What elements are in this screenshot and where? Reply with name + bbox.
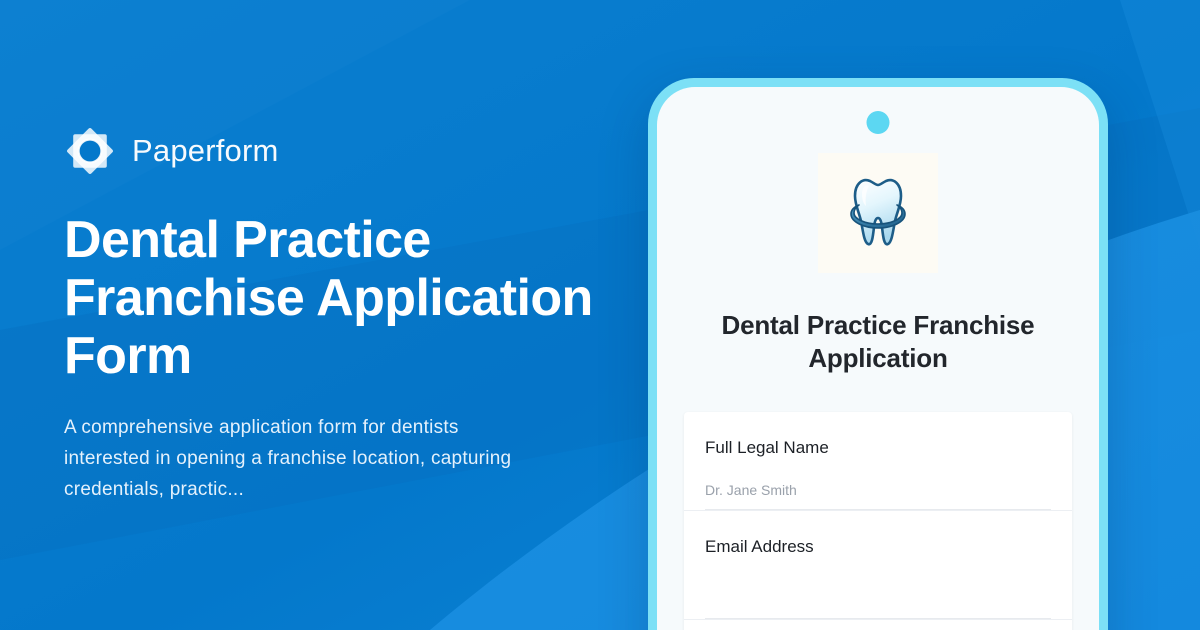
field-label: Full Legal Name	[705, 438, 1051, 458]
form-title: Dental Practice Franchise Application	[679, 309, 1077, 376]
form-card: Full Legal Name Dr. Jane Smith Email Add…	[684, 412, 1072, 630]
tooth-icon	[842, 174, 914, 252]
og-image-canvas: Paperform Dental Practice Franchise Appl…	[0, 0, 1200, 630]
paperform-star-logo-icon	[64, 125, 116, 177]
form-logo	[818, 153, 938, 273]
page-title: Dental Practice Franchise Application Fo…	[64, 211, 604, 386]
form-field-email-address: Email Address	[684, 511, 1072, 620]
brand-name: Paperform	[132, 133, 279, 169]
camera-dot-icon	[867, 111, 890, 134]
form-field-full-legal-name: Full Legal Name Dr. Jane Smith	[684, 412, 1072, 511]
phone-mockup: Dental Practice Franchise Application Fu…	[648, 78, 1108, 630]
hero-panel: Paperform Dental Practice Franchise Appl…	[64, 0, 624, 630]
field-label: Email Address	[705, 537, 1051, 557]
phone-screen: Dental Practice Franchise Application Fu…	[657, 87, 1099, 630]
email-address-input[interactable]	[705, 599, 1051, 619]
page-description: A comprehensive application form for den…	[64, 413, 544, 505]
brand-lockup: Paperform	[64, 125, 624, 177]
full-legal-name-input[interactable]: Dr. Jane Smith	[705, 482, 1051, 510]
